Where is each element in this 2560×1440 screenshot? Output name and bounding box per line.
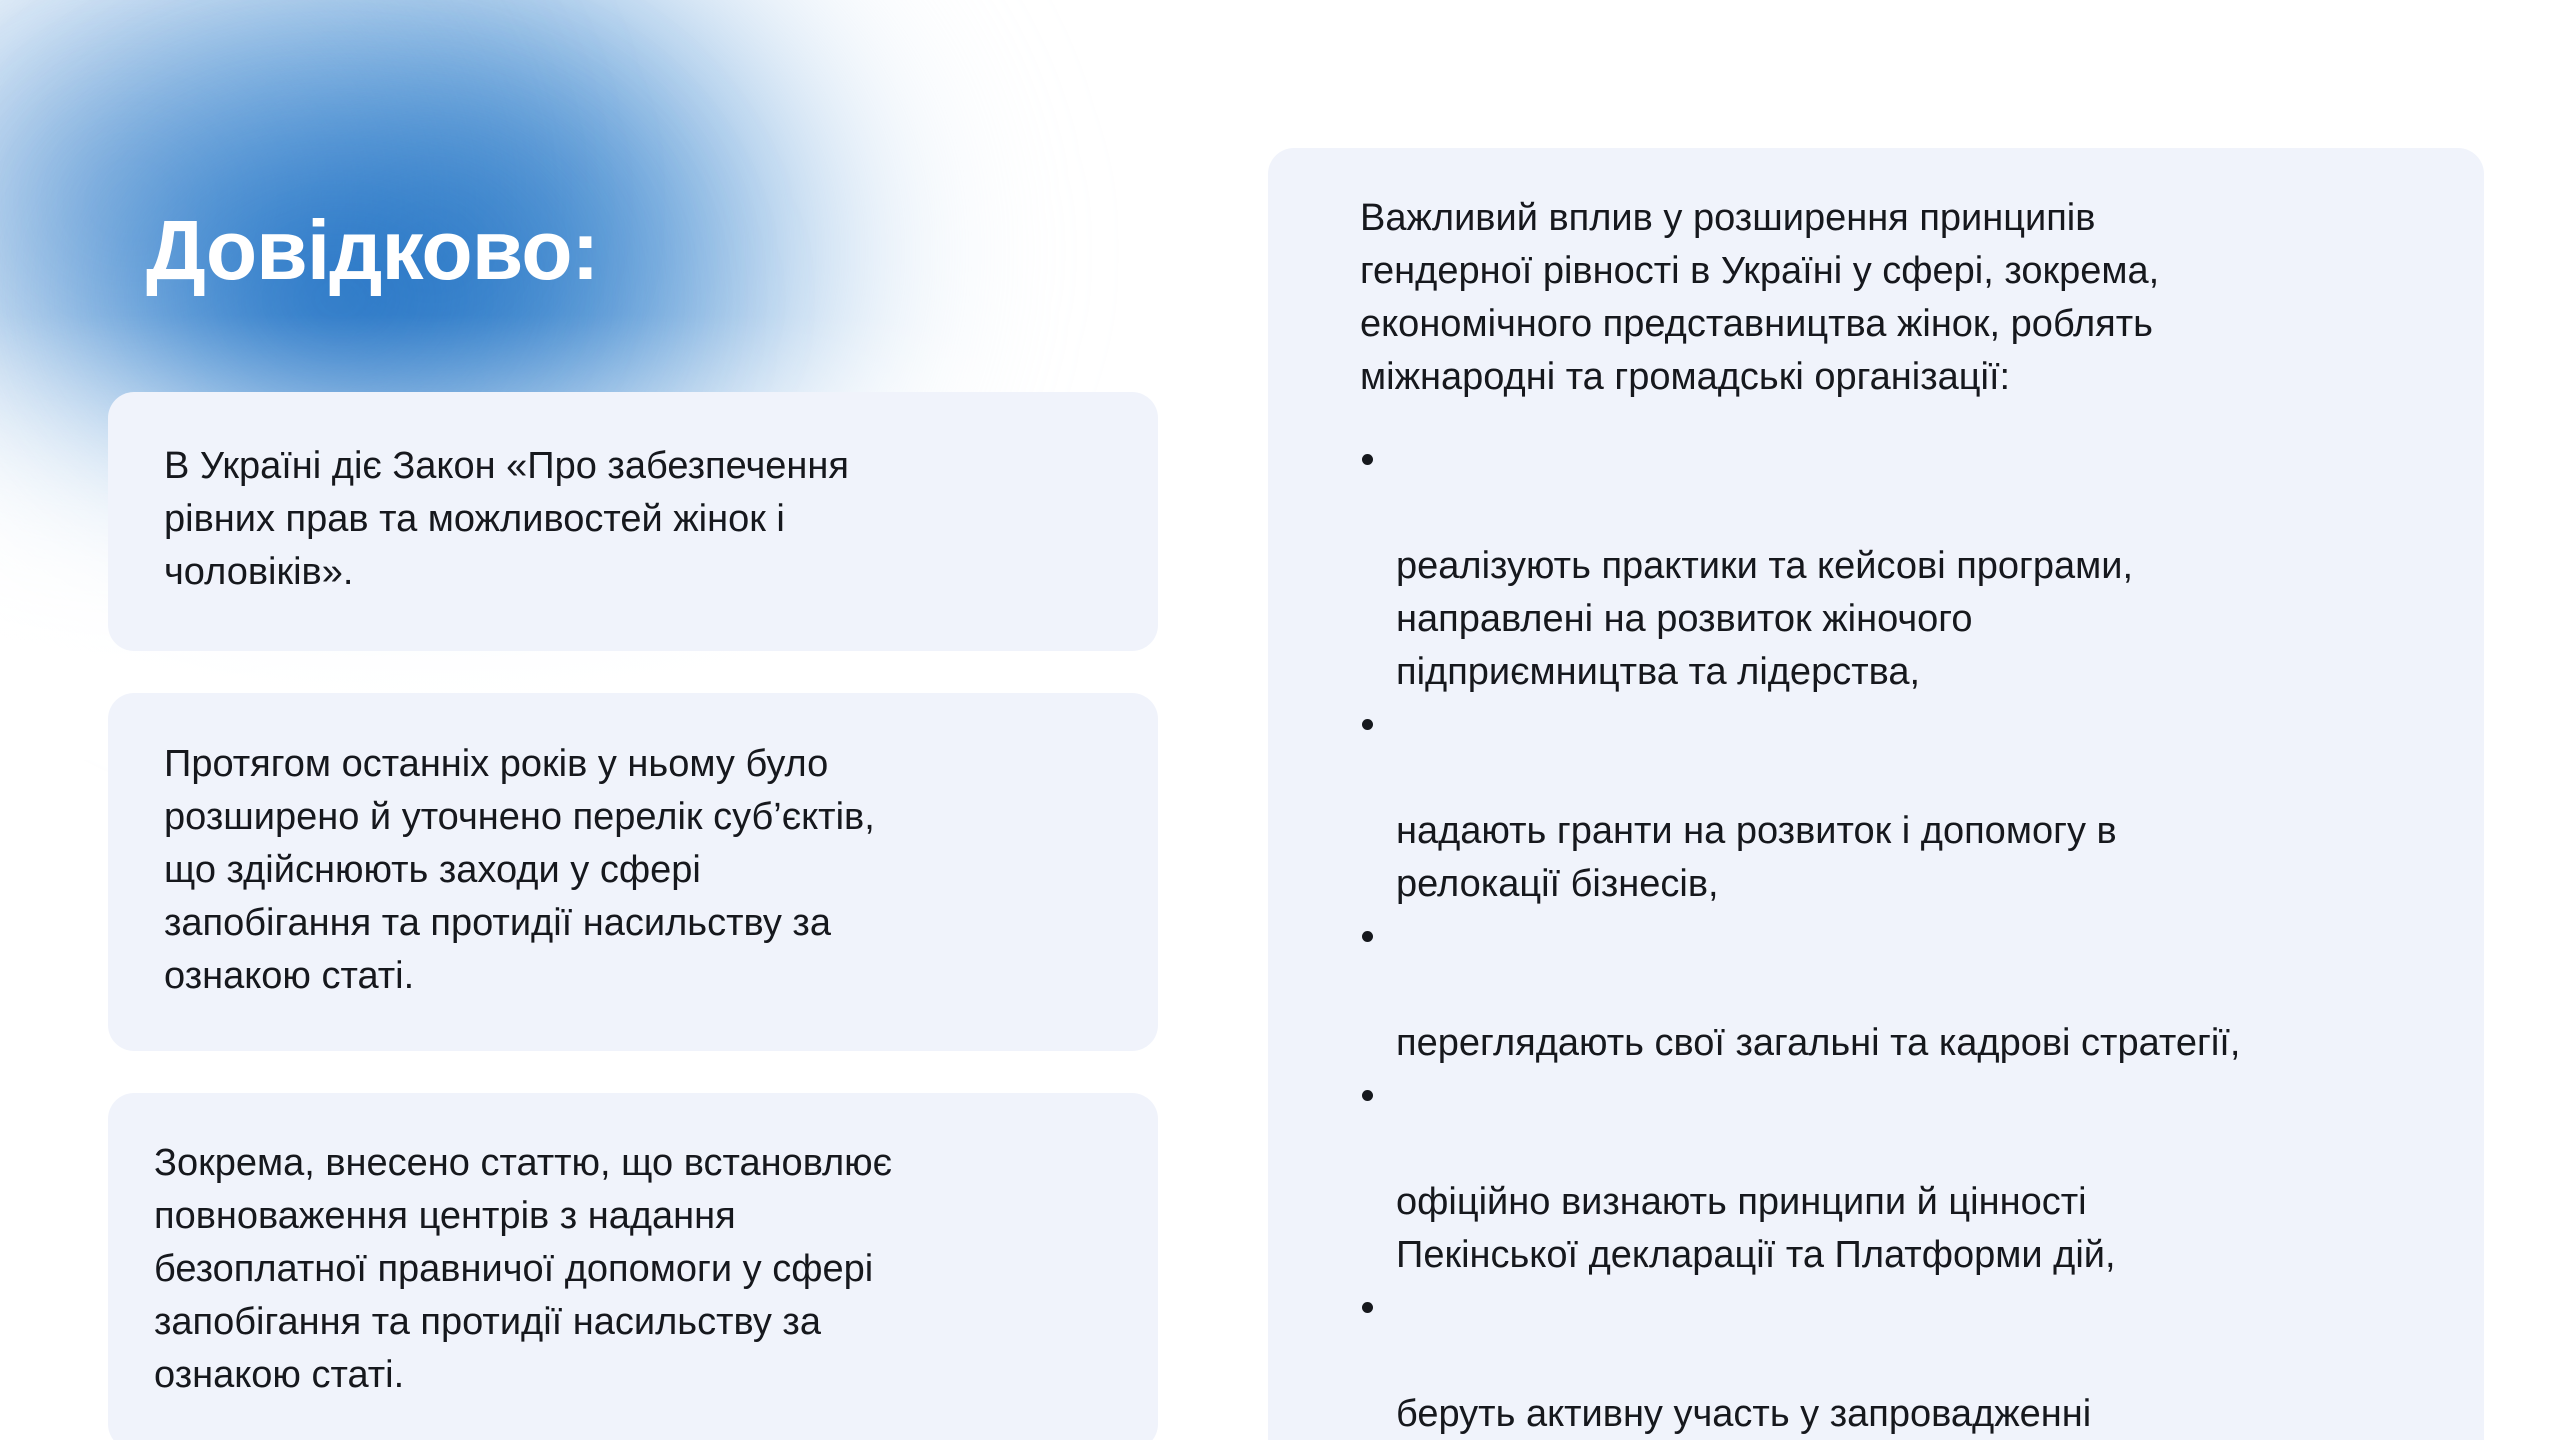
list-item-label: реалізують практики та кейсові програми,… bbox=[1396, 545, 2133, 693]
info-card-law: В Україні діє Закон «Про забезпечення рі… bbox=[108, 392, 1158, 651]
info-card-expansion-text: Протягом останніх років у ньому було роз… bbox=[164, 738, 1102, 1003]
right-info-panel: Важливий вплив у розширення принципів ге… bbox=[1268, 148, 2484, 1440]
page-title: Довідково: bbox=[146, 208, 599, 292]
info-card-expansion: Протягом останніх років у ньому було роз… bbox=[108, 693, 1158, 1051]
list-item: офіційно визнають принципи й цінності Пе… bbox=[1360, 1070, 2438, 1282]
list-item: надають гранти на розвиток і допомогу в … bbox=[1360, 699, 2438, 911]
info-card-article-text: Зокрема, внесено статтю, що встановлює п… bbox=[154, 1137, 1102, 1402]
list-item-label: беруть активну участь у запровадженні на… bbox=[1396, 1393, 2163, 1440]
bullet-dot-icon bbox=[1362, 1302, 1373, 1313]
list-item: реалізують практики та кейсові програми,… bbox=[1360, 434, 2438, 699]
bullet-dot-icon bbox=[1362, 1090, 1373, 1101]
left-card-column: В Україні діє Закон «Про забезпечення рі… bbox=[108, 392, 1158, 1440]
list-item-label: офіційно визнають принципи й цінності Пе… bbox=[1396, 1181, 2116, 1276]
bullet-dot-icon bbox=[1362, 931, 1373, 942]
bullet-dot-icon bbox=[1362, 719, 1373, 730]
list-item-label: переглядають свої загальні та кадрові ст… bbox=[1396, 1022, 2240, 1064]
list-item-label: надають гранти на розвиток і допомогу в … bbox=[1396, 810, 2117, 905]
bullet-dot-icon bbox=[1362, 454, 1373, 465]
list-item: беруть активну участь у запровадженні на… bbox=[1360, 1282, 2438, 1440]
info-card-article: Зокрема, внесено статтю, що встановлює п… bbox=[108, 1093, 1158, 1440]
right-panel-intro-text: Важливий вплив у розширення принципів ге… bbox=[1360, 192, 2438, 404]
info-card-law-text: В Україні діє Закон «Про забезпечення рі… bbox=[164, 440, 1102, 599]
list-item: переглядають свої загальні та кадрові ст… bbox=[1360, 911, 2438, 1070]
slide-root: 08 Довідково: В Україні діє Закон «Про з… bbox=[0, 0, 2560, 1440]
organizations-bullet-list: реалізують практики та кейсові програми,… bbox=[1360, 434, 2438, 1440]
